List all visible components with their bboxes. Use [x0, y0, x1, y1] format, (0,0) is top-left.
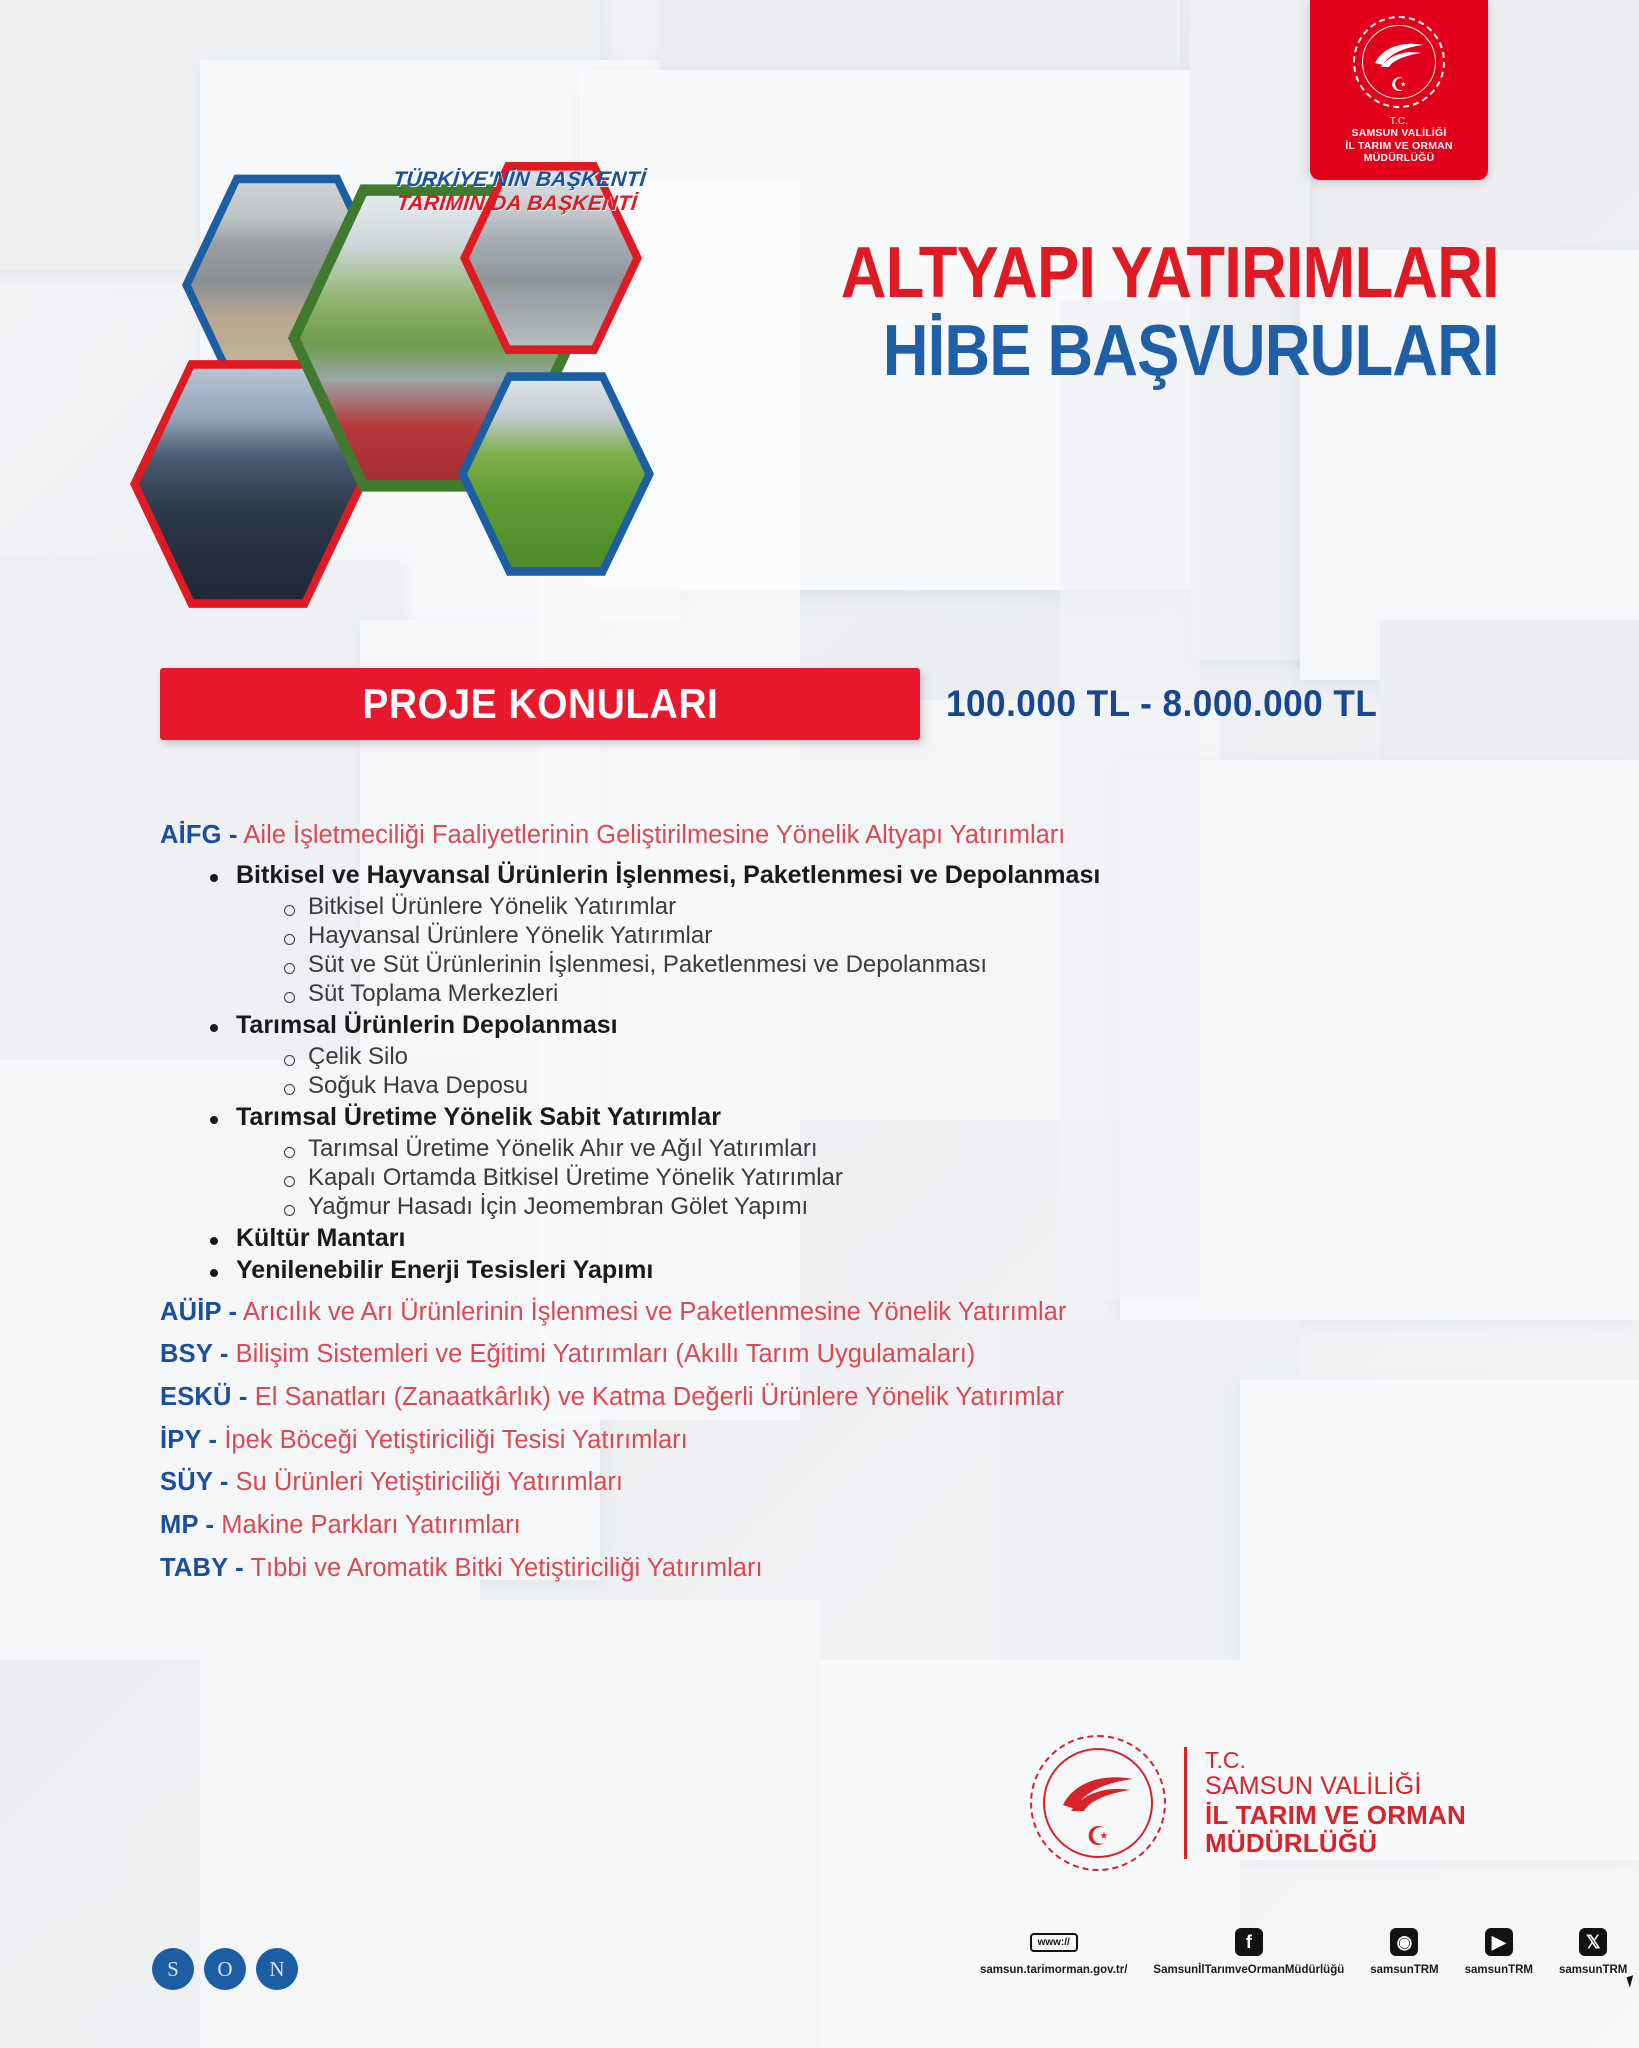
list-item: Hayvansal Ürünlere Yönelik Yatırımlar [278, 922, 1500, 950]
list-item: Yağmur Hasadı İçin Jeomembran Gölet Yapı… [278, 1193, 1500, 1221]
aifg-group-list: Bitkisel ve Hayvansal Ürünlerin İşlenmes… [204, 861, 1500, 1285]
code-abbr: BSY - [160, 1340, 229, 1368]
group-heading: Tarımsal Ürünlerin Depolanması [236, 1011, 618, 1039]
crescent-bird-icon [1373, 41, 1425, 67]
list-item: Tarımsal Üretime Yönelik Sabit Yatırımla… [204, 1103, 1500, 1221]
project-topics-banner-row: PROJE KONULARI 100.000 TL - 8.000.000 TL [160, 668, 1400, 740]
code-row: BSY - Bilişim Sistemleri ve Eğitimi Yatı… [160, 1337, 1500, 1372]
lockup-divider [1184, 1747, 1187, 1859]
list-item: Tarımsal Üretime Yönelik Ahır ve Ağıl Ya… [278, 1135, 1500, 1163]
ministry-seal-icon: ☪ [1353, 16, 1445, 108]
banner-label: PROJE KONULARI [362, 680, 718, 728]
code-desc: Su Ürünleri Yetiştiriciliği Yatırımları [236, 1468, 623, 1496]
list-item: Soğuk Hava Deposu [278, 1072, 1500, 1100]
code-row: MP - Makine Parkları Yatırımları [160, 1508, 1500, 1543]
social-instagram[interactable]: ◉ samsunTRM [1370, 1925, 1438, 1976]
code-desc: Arıcılık ve Arı Ürünlerinin İşlenmesi ve… [243, 1298, 1066, 1326]
slogan: TÜRKİYE'NİN BAŞKENTİ TARIMIN DA BAŞKENTİ [390, 168, 647, 215]
aifg-code: AİFG - [160, 821, 238, 849]
program-codes-list: AÜİP - Arıcılık ve Arı Ürünlerinin İşlen… [160, 1295, 1500, 1586]
list-item: Süt ve Süt Ürünlerinin İşlenmesi, Paketl… [278, 951, 1500, 979]
title-line-1: ALTYAPI YATIRIMLARI [841, 238, 1499, 309]
code-abbr: SÜY - [160, 1468, 229, 1496]
badge-line-1: T.C. [1345, 116, 1452, 128]
x-twitter-icon[interactable]: 𝕏 [1579, 1928, 1607, 1956]
hexagon-photo-collage [140, 150, 800, 590]
ministry-seal-icon: ☪ [1030, 1735, 1166, 1871]
code-desc: Makine Parkları Yatırımları [221, 1511, 520, 1539]
social-label[interactable]: samsun.tarimorman.gov.tr/ [980, 1964, 1127, 1976]
slogan-line-2: TARIMIN DA BAŞKENTİ [390, 192, 645, 216]
code-row: İPY - İpek Böceği Yetiştiriciliği Tesisi… [160, 1423, 1500, 1458]
list-item: Çelik Silo [278, 1043, 1500, 1071]
lockup-line-1: T.C. [1205, 1748, 1466, 1773]
sub-list: Çelik Silo Soğuk Hava Deposu [278, 1043, 1500, 1100]
code-desc: İpek Böceği Yetiştiriciliği Tesisi Yatır… [224, 1426, 687, 1454]
lockup-line-3: İL TARIM VE ORMAN [1205, 1801, 1466, 1830]
code-row: SÜY - Su Ürünleri Yetiştiriciliği Yatırı… [160, 1465, 1500, 1500]
social-label[interactable]: samsunTRM [1559, 1964, 1627, 1976]
son-letter-o: O [204, 1948, 246, 1990]
crescent-bird-icon [1060, 1773, 1136, 1811]
social-label[interactable]: samsunTRM [1465, 1964, 1533, 1976]
social-youtube[interactable]: ▶ samsunTRM [1465, 1925, 1533, 1976]
list-item: Kültür Mantarı [204, 1224, 1500, 1253]
list-item: Tarımsal Ürünlerin Depolanması Çelik Sil… [204, 1011, 1500, 1100]
lockup-line-2: SAMSUN VALİLİĞİ [1205, 1773, 1466, 1801]
social-label[interactable]: SamsunİlTarımveOrmanMüdürlüğü [1153, 1964, 1344, 1976]
sub-list: Bitkisel Ürünlere Yönelik Yatırımlar Hay… [278, 893, 1500, 1008]
code-abbr: ESKÜ - [160, 1383, 248, 1411]
son-badge: S O N [152, 1948, 298, 1990]
list-item: Süt Toplama Merkezleri [278, 980, 1500, 1008]
group-heading: Bitkisel ve Hayvansal Ürünlerin İşlenmes… [236, 861, 1100, 889]
list-item: Bitkisel Ürünlere Yönelik Yatırımlar [278, 893, 1500, 921]
code-abbr: MP - [160, 1511, 214, 1539]
ministry-lockup-bottom: ☪ T.C. SAMSUN VALİLİĞİ İL TARIM VE ORMAN… [1030, 1735, 1466, 1871]
code-abbr: TABY - [160, 1554, 244, 1582]
crescent-star-icon: ☪ [1086, 1823, 1109, 1849]
proje-konulari-banner: PROJE KONULARI [160, 668, 920, 740]
list-item: Yenilenebilir Enerji Tesisleri Yapımı [204, 1256, 1500, 1285]
website-icon[interactable]: www:// [1030, 1933, 1078, 1952]
code-row: AÜİP - Arıcılık ve Arı Ürünlerinin İşlen… [160, 1295, 1500, 1330]
page-title: ALTYAPI YATIRIMLARI HİBE BAŞVURULARI [751, 238, 1499, 388]
code-desc: Tıbbi ve Aromatik Bitki Yetiştiriciliği … [250, 1554, 762, 1582]
project-topics-content: AİFG - Aile İşletmeciliği Faaliyetlerini… [160, 818, 1500, 1593]
youtube-icon[interactable]: ▶ [1485, 1928, 1513, 1956]
code-desc: Bilişim Sistemleri ve Eğitimi Yatırımlar… [236, 1340, 976, 1368]
title-line-2: HİBE BAŞVURULARI [841, 315, 1499, 388]
social-links-row: www:// samsun.tarimorman.gov.tr/ f Samsu… [980, 1925, 1627, 1976]
social-website[interactable]: www:// samsun.tarimorman.gov.tr/ [980, 1925, 1127, 1976]
grant-amount-range: 100.000 TL - 8.000.000 TL [946, 683, 1377, 725]
code-row: ESKÜ - El Sanatları (Zanaatkârlık) ve Ka… [160, 1380, 1500, 1415]
instagram-icon[interactable]: ◉ [1390, 1928, 1418, 1956]
list-item: Kapalı Ortamda Bitkisel Üretime Yönelik … [278, 1164, 1500, 1192]
ministry-badge-top-right: ☪ T.C. SAMSUN VALİLİĞİ İL TARIM VE ORMAN… [1310, 0, 1488, 180]
code-row: TABY - Tıbbi ve Aromatik Bitki Yetiştiri… [160, 1551, 1500, 1586]
code-abbr: İPY - [160, 1426, 217, 1454]
son-letter-s: S [152, 1948, 194, 1990]
badge-line-2: SAMSUN VALİLİĞİ [1345, 127, 1452, 139]
social-facebook[interactable]: f SamsunİlTarımveOrmanMüdürlüğü [1153, 1925, 1344, 1976]
group-heading: Tarımsal Üretime Yönelik Sabit Yatırımla… [236, 1103, 721, 1131]
aifg-desc: Aile İşletmeciliği Faaliyetlerinin Geliş… [243, 821, 1065, 849]
badge-line-4: MÜDÜRLÜĞÜ [1345, 152, 1452, 164]
lockup-line-4: MÜDÜRLÜĞÜ [1205, 1829, 1466, 1858]
sub-list: Tarımsal Üretime Yönelik Ahır ve Ağıl Ya… [278, 1135, 1500, 1221]
facebook-icon[interactable]: f [1235, 1928, 1263, 1956]
list-item: Bitkisel ve Hayvansal Ürünlerin İşlenmes… [204, 861, 1500, 1008]
badge-line-3: İL TARIM VE ORMAN [1345, 140, 1452, 152]
son-letter-n: N [256, 1948, 298, 1990]
slogan-line-1: TÜRKİYE'NİN BAŞKENTİ [392, 168, 647, 192]
aifg-header-line: AİFG - Aile İşletmeciliği Faaliyetlerini… [160, 818, 1500, 853]
code-desc: El Sanatları (Zanaatkârlık) ve Katma Değ… [255, 1383, 1064, 1411]
social-x[interactable]: 𝕏 samsunTRM [1559, 1925, 1627, 1976]
social-label[interactable]: samsunTRM [1370, 1964, 1438, 1976]
code-abbr: AÜİP - [160, 1298, 237, 1326]
crescent-star-icon: ☪ [1390, 76, 1407, 95]
